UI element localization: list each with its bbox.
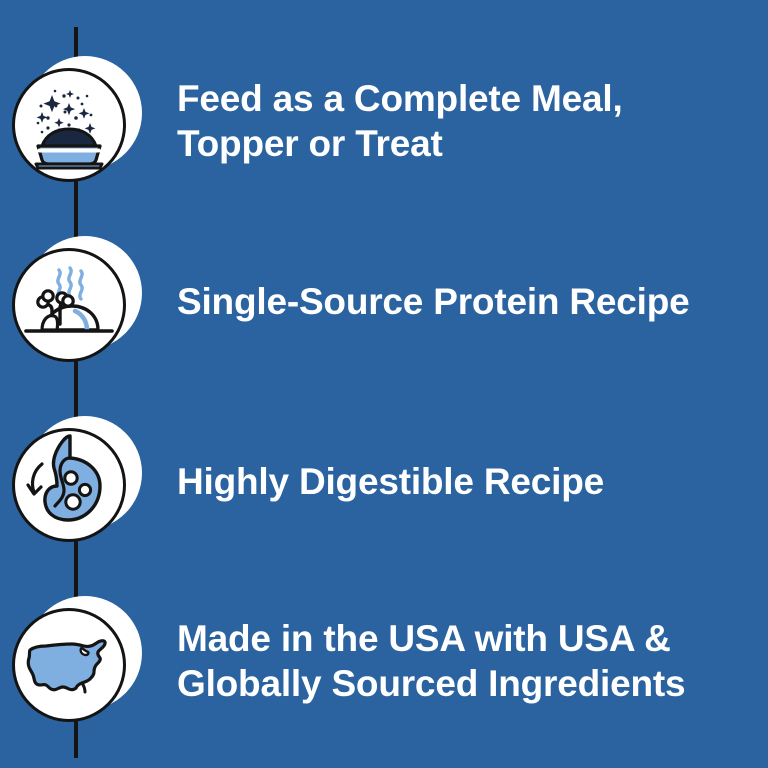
stomach-digestion-icon [12,428,126,542]
benefit-label-4: Made in the USA with USA & Globally Sour… [177,616,685,706]
benefit-icon-badge-3 [12,416,142,546]
benefit-row-2: Single-Source Protein Recipe [0,236,768,366]
benefit-icon-badge-4 [12,596,142,726]
usa-map-icon [12,608,126,722]
benefit-row-3: Highly Digestible Recipe [0,416,768,546]
food-bowl-sparkles-icon [12,68,126,182]
benefit-row-4: Made in the USA with USA & Globally Sour… [0,596,768,726]
benefit-icon-badge-1 [12,56,142,186]
benefit-icon-badge-2 [12,236,142,366]
benefit-label-2: Single-Source Protein Recipe [177,279,690,324]
benefits-infographic: Feed as a Complete Meal, Topper or Treat [0,0,768,768]
benefit-label-1: Feed as a Complete Meal, Topper or Treat [177,76,623,166]
benefit-row-1: Feed as a Complete Meal, Topper or Treat [0,56,768,186]
roast-meat-steam-icon [12,248,126,362]
benefit-label-3: Highly Digestible Recipe [177,459,604,504]
